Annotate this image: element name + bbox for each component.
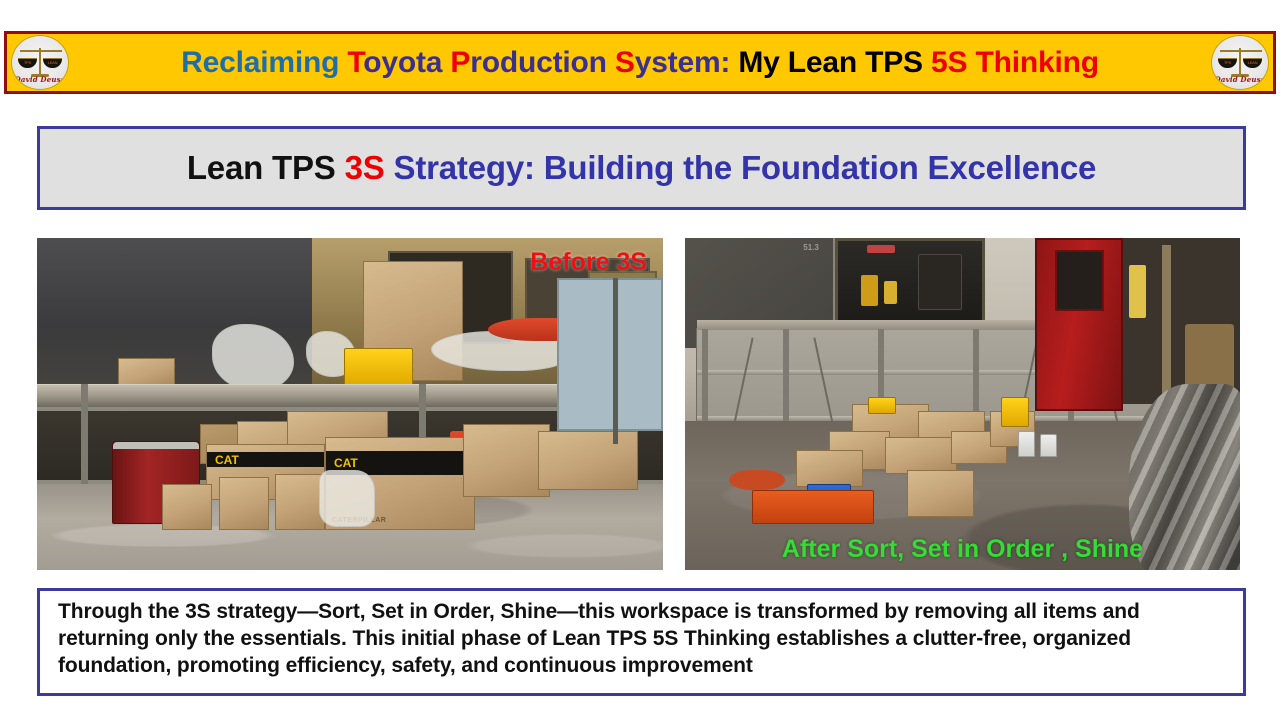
after-yellow-item-a bbox=[1001, 397, 1029, 427]
before-metal-post bbox=[613, 278, 618, 444]
subtitle-part-lean-tps: Lean TPS bbox=[187, 149, 336, 186]
before-floor-box-small-a bbox=[162, 484, 212, 530]
scale-pan-right-icon: LEAN bbox=[1243, 58, 1262, 68]
before-small-box-bench bbox=[118, 358, 174, 388]
photo-before-3s: CAT CAT CATERPILLAR Before 3S bbox=[37, 238, 663, 570]
after-label: After Sort, Set in Order , Shine bbox=[782, 537, 1143, 562]
title-word-roduction: roduction bbox=[470, 46, 607, 79]
before-white-wrapped-floor bbox=[319, 470, 375, 526]
after-window-red-item bbox=[867, 245, 896, 253]
title-word-ystem: ystem: bbox=[635, 46, 731, 79]
subtitle-part-3s: 3S bbox=[345, 149, 385, 186]
after-worker-vest bbox=[1129, 265, 1146, 318]
scale-beam-icon bbox=[1220, 50, 1262, 52]
after-window-cabinet bbox=[918, 254, 961, 310]
after-floor-box-g bbox=[907, 470, 974, 516]
slide-root: TPS LEAN David Deuse Reclaiming Toyota P… bbox=[0, 0, 1280, 720]
scale-pan-left-value: TPS bbox=[1218, 60, 1237, 65]
scale-pan-left-icon: TPS bbox=[18, 58, 37, 68]
after-aisle-rack-post bbox=[1162, 245, 1171, 398]
after-orange-pallet-jack bbox=[752, 490, 874, 523]
after-floor-box-d bbox=[885, 437, 957, 474]
scale-post-icon bbox=[1239, 48, 1241, 74]
title-phrase-my-lean-tps: My Lean TPS bbox=[738, 46, 923, 79]
title-letter-p: P bbox=[450, 46, 470, 79]
subtitle-part-strategy: Strategy: Building the Foundation Excell… bbox=[394, 149, 1097, 186]
before-yellow-toolbox bbox=[344, 348, 413, 388]
summary-paragraph: Through the 3S strategy—Sort, Set in Ord… bbox=[58, 599, 1229, 680]
scale-pan-left-icon: TPS bbox=[1218, 58, 1237, 68]
before-floor-box-small-c bbox=[275, 474, 325, 530]
scale-pan-right-icon: LEAN bbox=[43, 58, 62, 68]
before-label: Before 3S bbox=[530, 250, 647, 275]
before-drum-rim bbox=[113, 442, 199, 449]
before-shelf-post-left bbox=[81, 384, 88, 497]
scale-pan-right-value: LEAN bbox=[1243, 60, 1262, 65]
after-large-tire bbox=[1129, 384, 1240, 570]
before-floor-box-small-b bbox=[219, 477, 269, 530]
after-red-door bbox=[1035, 238, 1124, 411]
after-bottle-a bbox=[1018, 431, 1035, 458]
before-floor-box-d bbox=[538, 431, 638, 491]
cat-logo-band: CAT bbox=[207, 452, 324, 466]
scale-beam-icon bbox=[20, 50, 62, 52]
title-phrase-5s-thinking: 5S Thinking bbox=[931, 46, 1099, 79]
after-red-equipment bbox=[729, 470, 785, 490]
summary-box: Through the 3S strategy—Sort, Set in Ord… bbox=[37, 588, 1246, 696]
before-blue-panel bbox=[557, 278, 663, 431]
header-banner: TPS LEAN David Deuse Reclaiming Toyota P… bbox=[4, 31, 1276, 94]
after-bottle-b bbox=[1040, 434, 1057, 457]
logo-signature-left: David Deuse bbox=[12, 75, 68, 84]
after-window-object-a bbox=[861, 275, 878, 306]
after-yellow-item-b bbox=[868, 397, 896, 414]
after-floor-box-f bbox=[796, 450, 863, 487]
subtitle-bar: Lean TPS 3S Strategy: Building the Found… bbox=[37, 126, 1246, 210]
balance-scale-logo-right: TPS LEAN David Deuse bbox=[1211, 35, 1269, 90]
after-window-object-b bbox=[884, 281, 897, 304]
title-word-reclaiming: Reclaiming bbox=[181, 46, 339, 79]
balance-scale-logo-left: TPS LEAN David Deuse bbox=[11, 35, 69, 90]
title-letter-s: S bbox=[615, 46, 635, 79]
logo-signature-right: David Deuse bbox=[1212, 75, 1268, 84]
page-title: Reclaiming Toyota Production System: My … bbox=[69, 48, 1211, 78]
scale-post-icon bbox=[39, 48, 41, 74]
subtitle-text: Lean TPS 3S Strategy: Building the Found… bbox=[187, 149, 1096, 187]
chalkboard-number: 51.3 bbox=[803, 243, 819, 252]
title-word-oyota: oyota bbox=[363, 46, 442, 79]
scale-pan-left-value: TPS bbox=[18, 60, 37, 65]
photo-after-3s: 51.3 bbox=[685, 238, 1240, 570]
title-letter-t: T bbox=[347, 46, 363, 79]
after-door-window bbox=[1055, 250, 1104, 311]
scale-pan-right-value: LEAN bbox=[43, 60, 62, 65]
